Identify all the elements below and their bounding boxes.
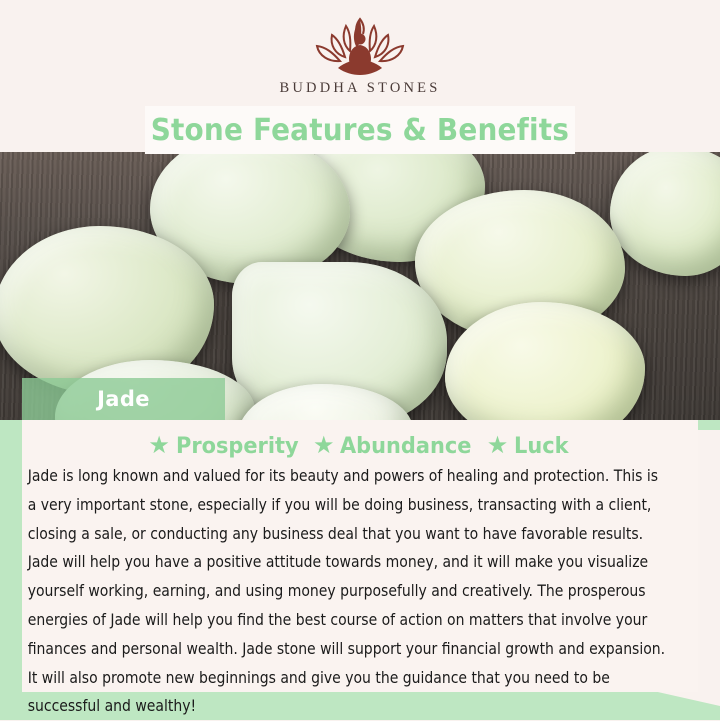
- lotus-meditation-icon: [305, 16, 415, 78]
- star-icon: ★: [313, 434, 335, 458]
- brand-name: BUDDHA STONES: [280, 80, 441, 97]
- benefit-label: Luck: [514, 434, 568, 459]
- benefit-item-luck: ★ Luck: [487, 434, 572, 459]
- stone-name-banner: Jade: [22, 378, 225, 420]
- stone-description: Jade is long known and valued for its be…: [22, 462, 673, 721]
- page-title: Stone Features & Benefits: [151, 113, 569, 148]
- benefit-label: Prosperity: [176, 434, 299, 459]
- star-icon: ★: [487, 434, 509, 458]
- benefits-row: ★ Prosperity ★ Abundance ★ Luck: [22, 430, 698, 462]
- title-banner: Stone Features & Benefits: [145, 106, 575, 154]
- benefit-item-prosperity: ★ Prosperity: [148, 434, 305, 459]
- benefit-label: Abundance: [340, 434, 471, 459]
- star-icon: ★: [148, 434, 170, 458]
- stone-name-label: Jade: [97, 387, 150, 411]
- benefit-item-abundance: ★ Abundance: [313, 434, 479, 459]
- brand-header: BUDDHA STONES: [0, 0, 720, 108]
